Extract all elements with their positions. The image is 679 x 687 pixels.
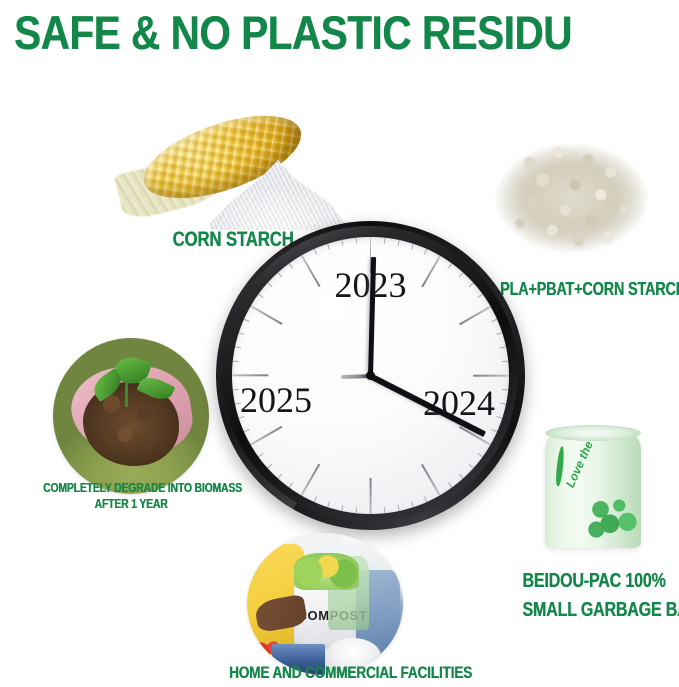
clock-minor-tick — [424, 496, 427, 502]
clock-minor-tick — [500, 346, 506, 348]
clock-major-tick — [459, 306, 491, 325]
garbage-bag-roll-illustration: Love the Future — [545, 432, 641, 548]
clock-minor-tick — [233, 389, 239, 391]
clock-minor-tick — [327, 501, 330, 507]
clock-minor-tick — [235, 346, 241, 348]
soil-seedling-photo — [53, 338, 209, 494]
clock-minor-tick — [448, 263, 452, 268]
clock-minor-tick — [239, 332, 245, 335]
clock-minor-tick — [233, 361, 239, 363]
clock-face: 2023 2024 2025 — [232, 237, 509, 514]
bag-roll-graphic-print — [587, 494, 639, 542]
clock-minor-tick — [502, 389, 508, 391]
clock-minor-tick — [448, 482, 452, 487]
clock-year-2024: 2024 — [423, 385, 495, 421]
clock-minor-tick — [384, 238, 386, 244]
caption-degradation-line1: COMPLETELY DEGRADE INTO BIOMASS — [43, 481, 219, 496]
bag-roll-top-ellipse — [545, 425, 641, 441]
clock-major-tick — [421, 464, 440, 496]
bag-roll-body: Love the Future — [545, 432, 641, 548]
caption-home-commercial-facilities: HOME AND COMMERCIAL FACILITIES — [229, 663, 421, 682]
clock-minor-tick — [491, 319, 497, 322]
clock-minor-tick — [411, 501, 414, 507]
clock-minor-tick — [477, 294, 482, 298]
clock-minor-tick — [327, 244, 330, 250]
clock-minor-tick — [244, 319, 250, 322]
clock-minor-tick — [384, 507, 386, 513]
clock-minor-tick — [459, 272, 464, 277]
clock-minor-tick — [398, 505, 400, 511]
year-clock-graphic: 2023 2024 2025 — [216, 221, 525, 530]
clock-minor-tick — [356, 507, 358, 513]
clock-minor-tick — [496, 332, 502, 335]
clock-minor-tick — [411, 244, 414, 250]
clock-minor-tick — [356, 238, 358, 244]
clock-minor-tick — [477, 453, 482, 457]
clock-major-tick — [473, 375, 509, 377]
clock-minor-tick — [289, 263, 293, 268]
clock-minor-tick — [277, 272, 282, 277]
clock-major-tick — [301, 464, 320, 496]
clock-minor-tick — [469, 282, 474, 287]
clock-minor-tick — [424, 249, 427, 255]
clock-minor-tick — [398, 240, 400, 246]
clock-minor-tick — [258, 453, 263, 457]
clock-major-tick — [421, 255, 440, 287]
caption-product-line2: SMALL GARBAGE BAGS — [522, 599, 661, 621]
clock-minor-tick — [496, 416, 502, 419]
product-infographic: SAFE & NO PLASTIC RESIDU CORN STARCH PLA… — [0, 0, 679, 687]
clock-minor-tick — [258, 294, 263, 298]
clock-center-hub — [366, 371, 375, 380]
food-scraps-shape — [294, 553, 360, 590]
clock-minor-tick — [277, 474, 282, 479]
caption-product-line1: BEIDOU-PAC 100% — [522, 570, 661, 592]
clock-minor-tick — [500, 403, 506, 405]
clock-minor-tick — [244, 429, 250, 432]
clock-minor-tick — [267, 464, 272, 469]
clock-minor-tick — [314, 496, 317, 502]
clock-minor-tick — [491, 429, 497, 432]
clock-major-tick — [301, 255, 320, 287]
clock-year-2025: 2025 — [240, 382, 312, 418]
clock-minor-tick — [341, 240, 343, 246]
clock-minor-tick — [469, 464, 474, 469]
compost-facilities-photo: COMPOST — [247, 533, 403, 675]
clock-major-tick — [232, 375, 268, 377]
corn-starch-illustration — [118, 118, 348, 230]
clock-minor-tick — [314, 249, 317, 255]
clock-major-tick — [250, 426, 282, 445]
clock-minor-tick — [502, 361, 508, 363]
clock-minor-tick — [341, 505, 343, 511]
caption-degradation-line2: AFTER 1 YEAR — [43, 497, 219, 512]
clock-minor-tick — [267, 282, 272, 287]
clock-major-tick — [250, 306, 282, 325]
clock-major-tick — [370, 478, 372, 514]
clock-minor-tick — [289, 482, 293, 487]
headline-title: SAFE & NO PLASTIC RESIDU — [14, 8, 572, 58]
clock-minor-tick — [459, 474, 464, 479]
